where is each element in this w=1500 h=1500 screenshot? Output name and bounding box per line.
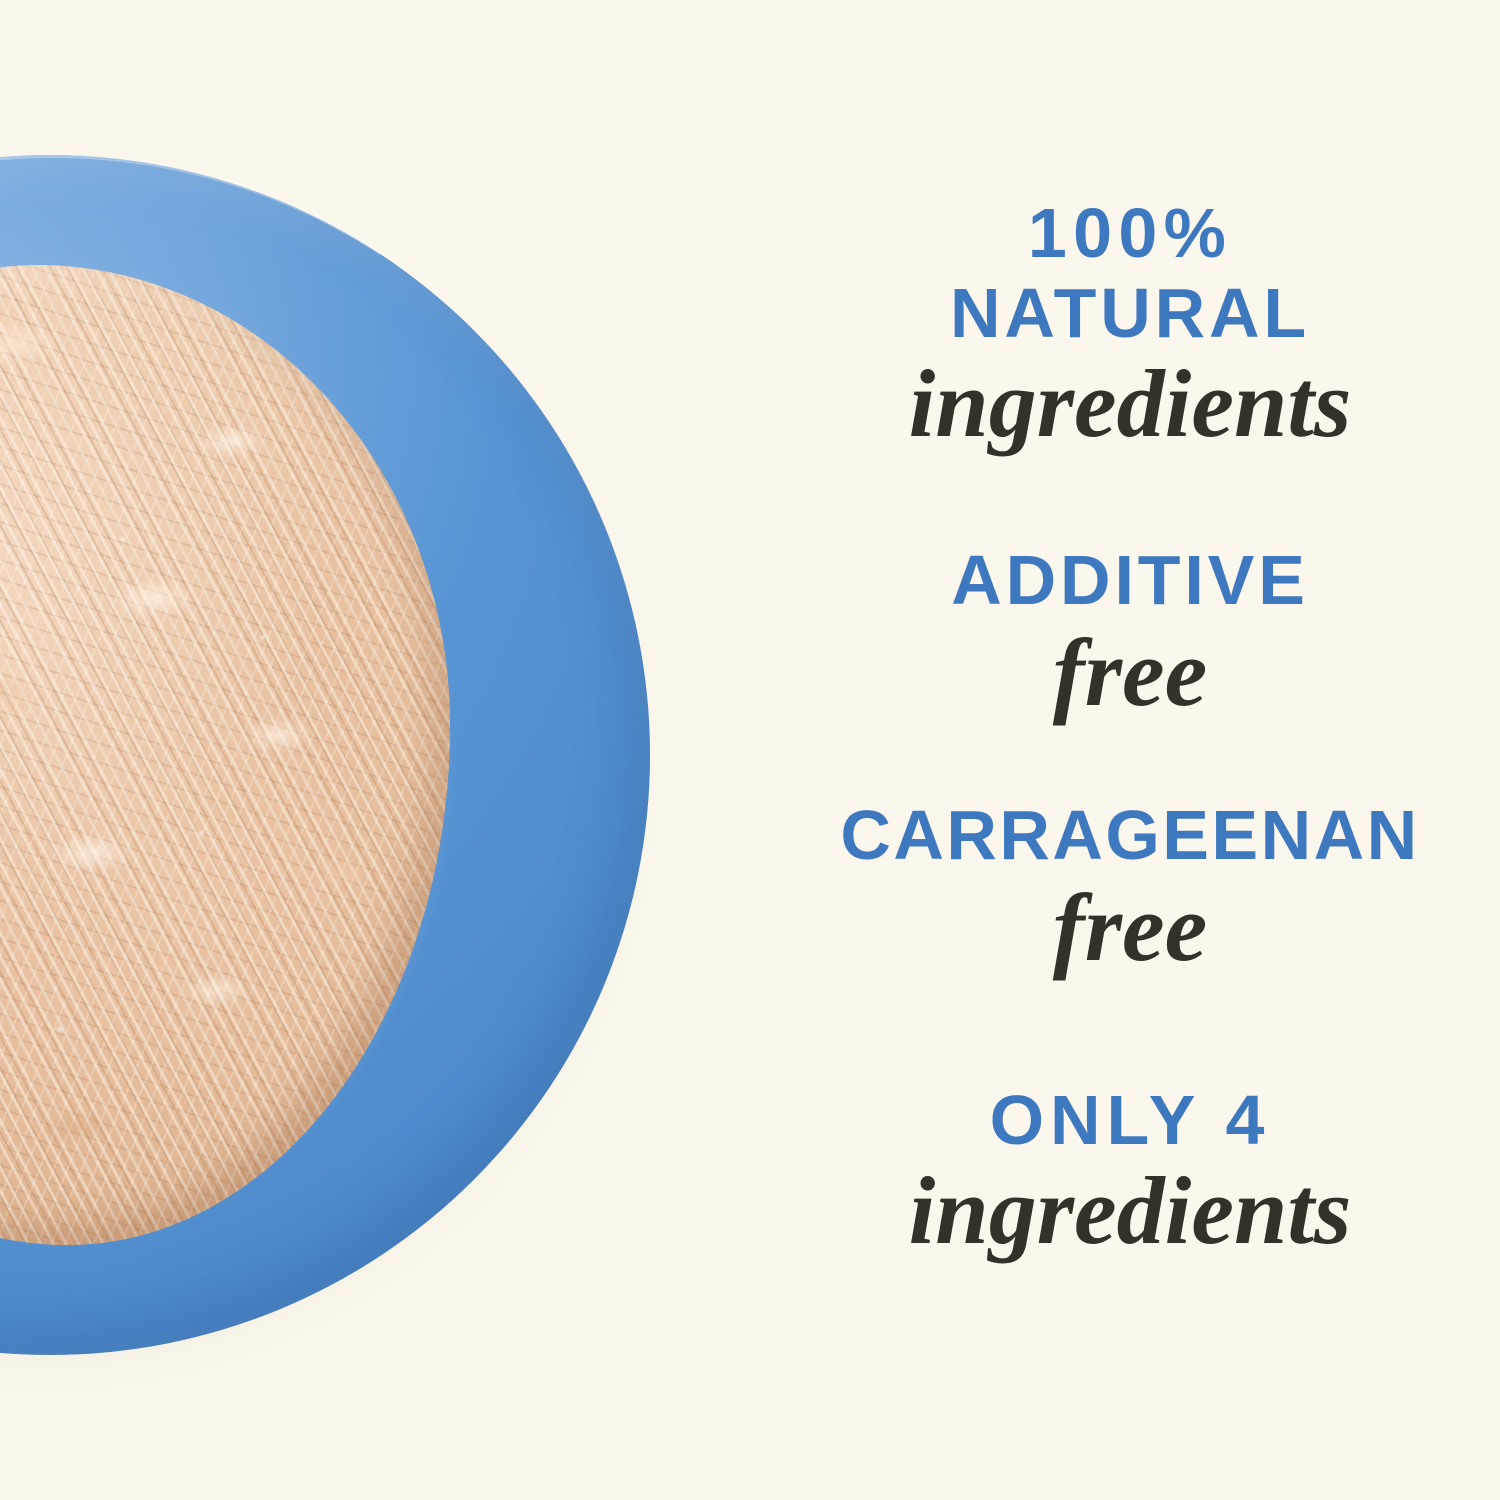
claim-headline-line-1: ONLY 4 — [760, 1085, 1500, 1155]
claim-script-text: free — [760, 625, 1500, 721]
claim-only-4-ingredients: ONLY 4 ingredients — [760, 1085, 1500, 1259]
product-photo — [0, 0, 760, 1500]
claim-headline-line-1: CARRAGEENAN — [760, 800, 1500, 870]
claim-script-text: ingredients — [760, 1163, 1500, 1259]
food-gloss-specular — [0, 265, 450, 1245]
claim-headline-line-1: ADDITIVE — [760, 545, 1500, 615]
claim-script-text: free — [760, 880, 1500, 976]
claim-natural-ingredients: 100% NATURAL ingredients — [760, 198, 1500, 452]
claims-list: 100% NATURAL ingredients ADDITIVE free C… — [760, 0, 1500, 1500]
shredded-meat-mound — [0, 265, 450, 1245]
claim-carrageenan-free: CARRAGEENAN free — [760, 800, 1500, 976]
claim-headline-line-1: 100% — [760, 198, 1500, 268]
claim-additive-free: ADDITIVE free — [760, 545, 1500, 721]
claim-script-text: ingredients — [760, 356, 1500, 452]
food-base — [0, 265, 450, 1245]
product-claims-graphic: 100% NATURAL ingredients ADDITIVE free C… — [0, 0, 1500, 1500]
claim-headline-line-2: NATURAL — [760, 278, 1500, 348]
